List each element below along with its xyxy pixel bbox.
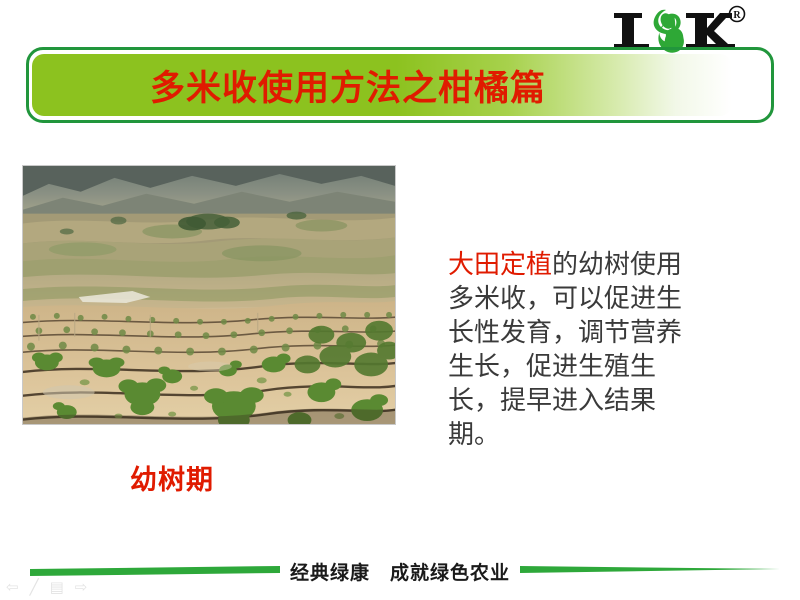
- footer-line-left: [30, 566, 280, 576]
- orchard-photo: [22, 165, 396, 425]
- forward-arrow-icon[interactable]: ⇨: [75, 580, 88, 595]
- menu-icon[interactable]: ▤: [50, 580, 64, 595]
- body-highlight-phrase: 大田定植: [448, 250, 552, 280]
- body-rest-text: 的幼树使用多米收，可以促进生长性发育，调节营养生长，促进生殖生长，提早进入结果期…: [448, 250, 682, 450]
- footer-slogan: 经典绿康 成就绿色农业: [284, 558, 516, 585]
- back-arrow-icon[interactable]: ⇦: [6, 580, 19, 595]
- logo-letter-l: [614, 13, 649, 50]
- presentation-slide: R 多米收使用方法之柑橘篇: [0, 0, 800, 600]
- logo-letter-k: [686, 13, 735, 50]
- body-paragraph: 大田定植的幼树使用多米收，可以促进生长性发育，调节营养生长，促进生殖生长，提早进…: [448, 248, 700, 452]
- page-title: 多米收使用方法之柑橘篇: [32, 54, 732, 116]
- photo-caption: 幼树期: [22, 458, 322, 497]
- slash-icon[interactable]: ╱: [30, 580, 39, 595]
- svg-text:R: R: [733, 10, 741, 21]
- nav-watermark: ⇦ ╱ ▤ ⇨: [6, 576, 126, 598]
- footer-line-right: [520, 566, 780, 573]
